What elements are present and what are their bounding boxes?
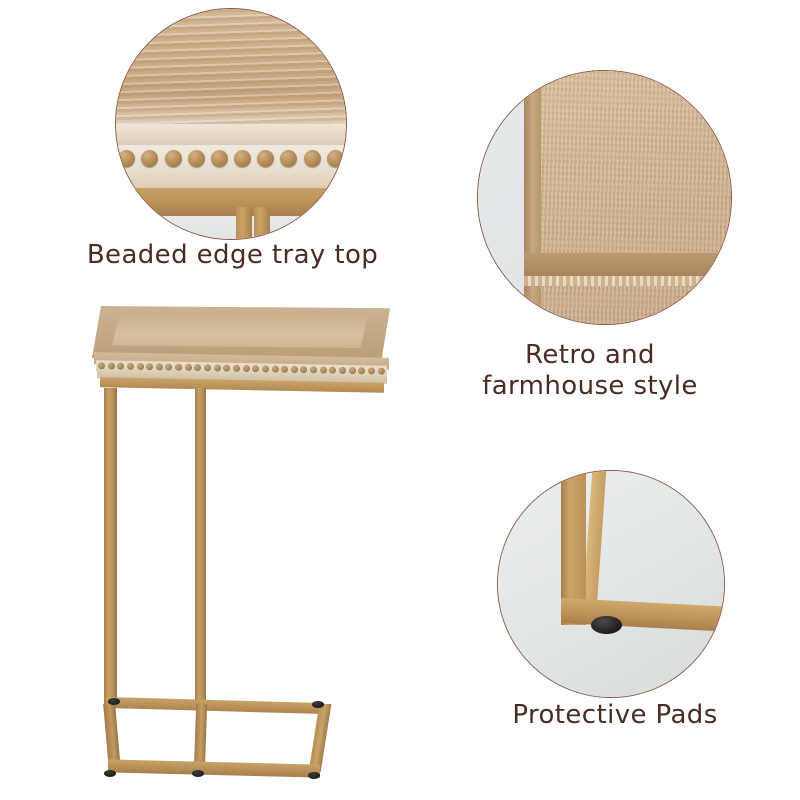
protective-pad-rear-right (312, 701, 324, 708)
bead-trim-row (115, 145, 347, 173)
metal-base-rail-rear (106, 697, 324, 714)
metal-base-rail-right (309, 704, 332, 772)
product-image-c-table (86, 300, 396, 770)
protective-pads-closeup-image (498, 471, 724, 697)
tray-rail-upper (115, 124, 347, 147)
metal-post-back (195, 388, 206, 706)
callout-circle-retro-style (477, 70, 732, 325)
metal-base-rail (561, 598, 725, 633)
tray-top-recess (112, 314, 368, 348)
metal-leg-front (236, 207, 252, 240)
tray-rim-bottom (524, 253, 732, 276)
beaded-edge-closeup-image (116, 9, 346, 239)
gold-apron-bar (115, 188, 347, 216)
infographic-canvas: Beaded edge tray top Retro andfarmhouse … (0, 0, 800, 800)
callout-circle-protective-pads (497, 470, 725, 698)
wood-plank-surface (115, 9, 347, 129)
tray-bead-edge (524, 276, 732, 286)
protective-pad-front-left (104, 770, 116, 777)
metal-base-rail-front (108, 759, 320, 777)
callout-label-beaded-edge: Beaded edge tray top (55, 240, 410, 271)
metal-post-front (104, 388, 117, 708)
callout-label-protective-pads: Protective Pads (470, 700, 760, 731)
callout-circle-beaded-edge (115, 8, 347, 240)
protective-pad (591, 616, 623, 634)
tray-wood-texture (534, 70, 732, 325)
metal-base-rail-middle (194, 704, 207, 770)
protective-pad-rear-left (108, 698, 120, 705)
tray-rail-lower (115, 171, 347, 189)
tray-rim-left (524, 70, 542, 325)
metal-leg-back (254, 207, 270, 240)
retro-label-line-2: farmhouse style (482, 371, 698, 401)
protective-pad-front-right (308, 772, 320, 779)
protective-pad-middle (192, 770, 204, 777)
wall-background (115, 216, 347, 240)
callout-label-retro-style: Retro andfarmhouse style (440, 340, 740, 401)
retro-label-line-1: Retro and (525, 340, 655, 370)
retro-closeup-image (478, 71, 731, 324)
metal-leg-rear (583, 470, 606, 602)
